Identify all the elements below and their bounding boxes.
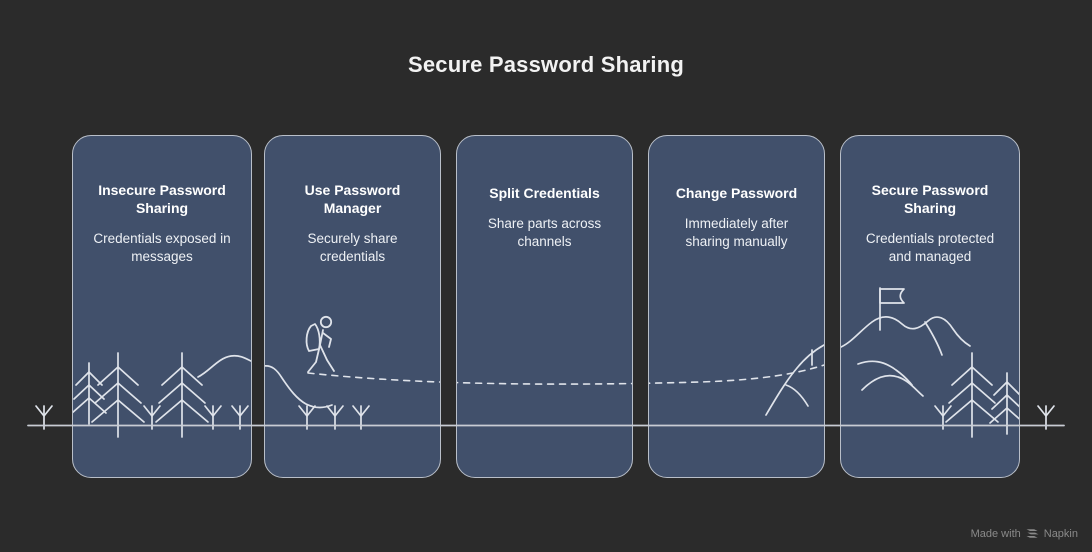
card-title: Use Password Manager (278, 181, 427, 217)
card-text-layer: Insecure Password Sharing Credentials ex… (0, 0, 1092, 552)
card-description: Credentials exposed in messages (86, 230, 238, 266)
card-description: Securely share credentials (278, 230, 427, 266)
card-content-secure-password-sharing: Secure Password Sharing Credentials prot… (840, 181, 1020, 266)
card-content-change-password: Change Password Immediately after sharin… (648, 184, 825, 251)
card-content-insecure-password-sharing: Insecure Password Sharing Credentials ex… (72, 181, 252, 266)
card-description: Immediately after sharing manually (662, 215, 811, 251)
card-title: Split Credentials (470, 184, 619, 202)
card-title: Secure Password Sharing (854, 181, 1006, 217)
diagram-canvas: Secure Password Sharing (0, 0, 1092, 552)
card-description: Credentials protected and managed (854, 230, 1006, 266)
napkin-watermark[interactable]: Made with Napkin (971, 528, 1078, 540)
watermark-prefix: Made with (971, 528, 1021, 540)
watermark-brand: Napkin (1044, 528, 1078, 540)
card-description: Share parts across channels (470, 215, 619, 251)
card-title: Insecure Password Sharing (86, 181, 238, 217)
card-content-split-credentials: Split Credentials Share parts across cha… (456, 184, 633, 251)
card-content-use-password-manager: Use Password Manager Securely share cred… (264, 181, 441, 266)
card-title: Change Password (662, 184, 811, 202)
napkin-logo-icon (1026, 528, 1039, 540)
